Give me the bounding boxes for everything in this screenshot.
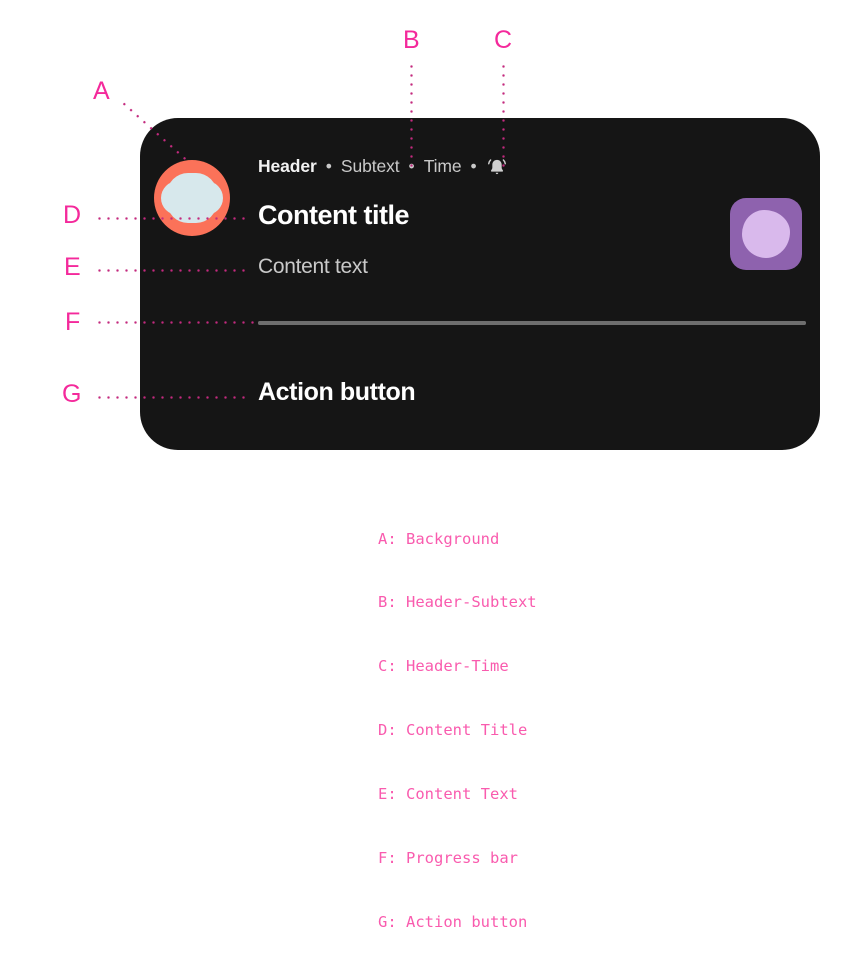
callout-letter-b: B bbox=[403, 28, 420, 53]
header-title: Header bbox=[258, 158, 317, 176]
leader-line-d bbox=[95, 217, 250, 220]
legend-row-a: A: Background bbox=[378, 529, 537, 550]
legend: A: Background B: Header-Subtext C: Heade… bbox=[378, 486, 537, 955]
avatar bbox=[154, 160, 230, 236]
callout-letter-a: A bbox=[93, 79, 110, 104]
legend-row-d: D: Content Title bbox=[378, 720, 537, 741]
content-title: Content title bbox=[258, 202, 409, 229]
callout-letter-d: D bbox=[63, 203, 81, 228]
notification-card[interactable]: Header • Subtext • Time • Content title … bbox=[140, 118, 820, 450]
card-header: Header • Subtext • Time • bbox=[258, 156, 508, 178]
legend-row-c: C: Header-Time bbox=[378, 656, 537, 677]
leader-line-c bbox=[502, 62, 505, 172]
content-text: Content text bbox=[258, 256, 368, 277]
action-button[interactable]: Action button bbox=[258, 380, 415, 405]
legend-row-e: E: Content Text bbox=[378, 784, 537, 805]
header-separator-1: • bbox=[326, 158, 332, 176]
leader-line-g bbox=[95, 396, 250, 399]
legend-row-f: F: Progress bar bbox=[378, 848, 537, 869]
header-subtext: Subtext bbox=[341, 158, 400, 176]
callout-letter-e: E bbox=[64, 255, 81, 280]
header-separator-3: • bbox=[471, 158, 477, 176]
leader-line-e bbox=[95, 269, 250, 272]
header-time: Time bbox=[424, 158, 462, 176]
callout-letter-g: G bbox=[62, 382, 81, 407]
callout-letter-c: C bbox=[494, 28, 512, 53]
callout-letter-f: F bbox=[65, 310, 80, 335]
image-blob-icon bbox=[742, 210, 790, 258]
legend-row-g: G: Action button bbox=[378, 912, 537, 933]
progress-bar bbox=[258, 321, 806, 325]
legend-row-b: B: Header-Subtext bbox=[378, 592, 537, 613]
leader-line-f bbox=[95, 321, 255, 324]
avatar-blob-icon bbox=[167, 173, 217, 223]
thumbnail-image[interactable] bbox=[730, 198, 802, 270]
leader-line-b bbox=[410, 62, 413, 172]
progress-bar-fill bbox=[258, 321, 806, 325]
